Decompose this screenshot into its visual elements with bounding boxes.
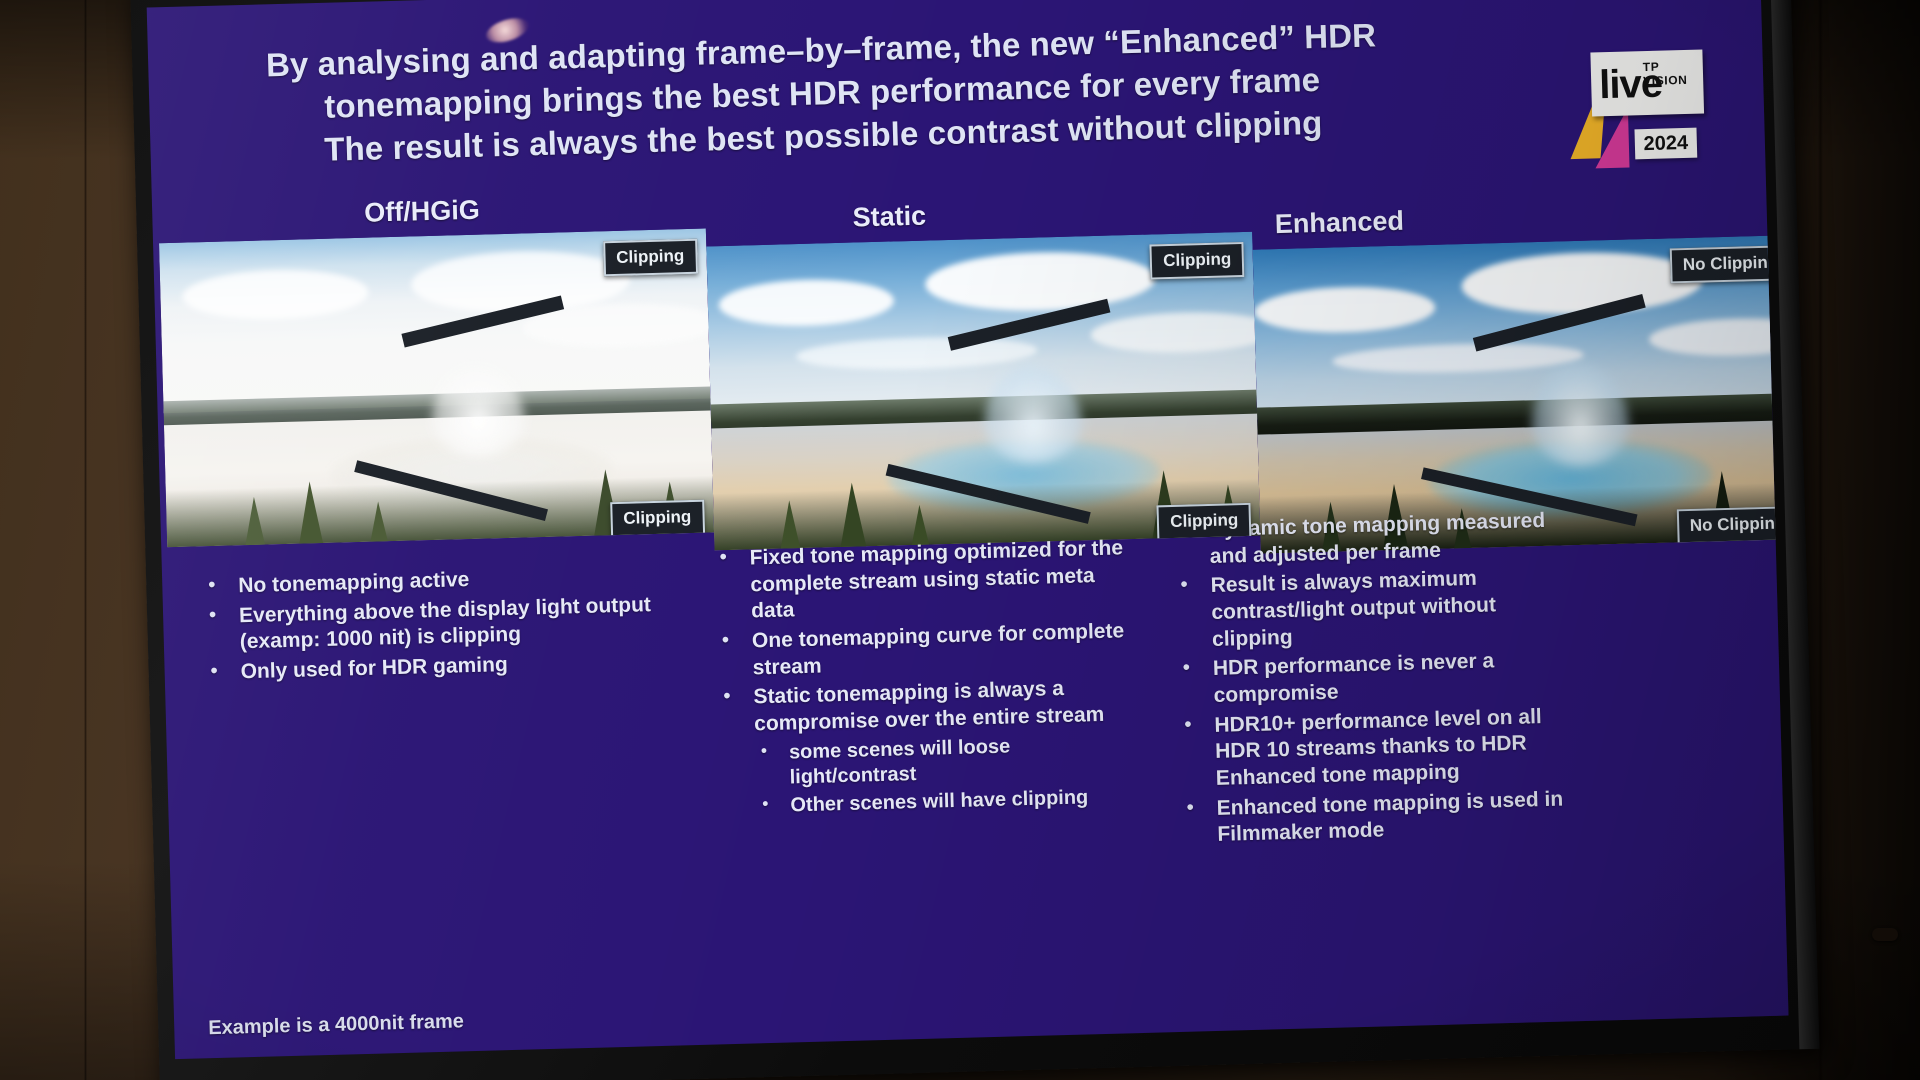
callout-clipping-sky: Clipping: [1150, 242, 1245, 280]
image-static: Clipping Clipping: [706, 232, 1261, 551]
tree: [368, 501, 389, 547]
list-item-sub: some scenes will loose light/contrast: [717, 731, 1138, 793]
callout-clipping-basin: Clipping: [1157, 503, 1252, 541]
photographed-tv-scene: By analysing and adapting frame–by–frame…: [0, 0, 1920, 1080]
bullet-list: No tonemapping active Everything above t…: [200, 561, 703, 687]
list-item: HDR10+ performance level on all HDR 10 s…: [1176, 703, 1578, 794]
callout-clipping-basin: Clipping: [610, 500, 705, 538]
logo-magenta-triangle: [1594, 108, 1630, 169]
logo-year-badge: 2024: [1634, 128, 1697, 160]
tp-vision-live-logo: live TP VISION 2024: [1578, 43, 1717, 175]
list-item: Enhanced tone mapping is used in Filmmak…: [1178, 786, 1579, 850]
wall-outlet: [1872, 928, 1898, 941]
tv-screen: By analysing and adapting frame–by–frame…: [147, 0, 1789, 1059]
bullets-enhanced: Dynamic tone mapping measured and adjust…: [1171, 507, 1580, 853]
comparison-image-strip: Clipping Clipping: [159, 199, 1788, 561]
slide-footer-note: Example is a 4000nit frame: [208, 1010, 464, 1040]
column-header-off-hgig: Off/HGiG: [364, 195, 480, 229]
bullet-list: Fixed tone mapping optimized for the com…: [711, 535, 1138, 821]
image-off-hgig: Clipping Clipping: [159, 229, 714, 548]
bullet-list: Dynamic tone mapping measured and adjust…: [1171, 507, 1580, 850]
list-item: Static tonemapping is always a compromis…: [715, 674, 1136, 739]
presentation-slide: By analysing and adapting frame–by–frame…: [147, 0, 1789, 1059]
callout-clipping-sky: Clipping: [603, 239, 698, 277]
list-item: HDR performance is never a compromise: [1175, 646, 1576, 710]
tree: [242, 497, 265, 548]
callout-no-clipping-basin: No Clipping: [1676, 506, 1788, 544]
list-item: Result is always maximum contrast/light …: [1172, 564, 1574, 655]
bullets-static: Fixed tone mapping optimized for the com…: [711, 535, 1138, 824]
logo-white-card: live TP VISION: [1590, 49, 1704, 116]
list-item: Fixed tone mapping optimized for the com…: [711, 535, 1133, 626]
television: By analysing and adapting frame–by–frame…: [130, 0, 1819, 1080]
slide-title: By analysing and adapting frame–by–frame…: [206, 13, 1439, 175]
list-item: One tonemapping curve for complete strea…: [714, 618, 1135, 683]
bullet-columns: No tonemapping active Everything above t…: [171, 511, 1788, 885]
list-item: Everything above the display light outpu…: [201, 590, 702, 657]
tree: [297, 481, 325, 547]
logo-brand-text: TP VISION: [1643, 58, 1704, 88]
bullets-off-hgig: No tonemapping active Everything above t…: [200, 561, 703, 690]
image-enhanced: No Clipping No Clipping: [1253, 235, 1789, 554]
